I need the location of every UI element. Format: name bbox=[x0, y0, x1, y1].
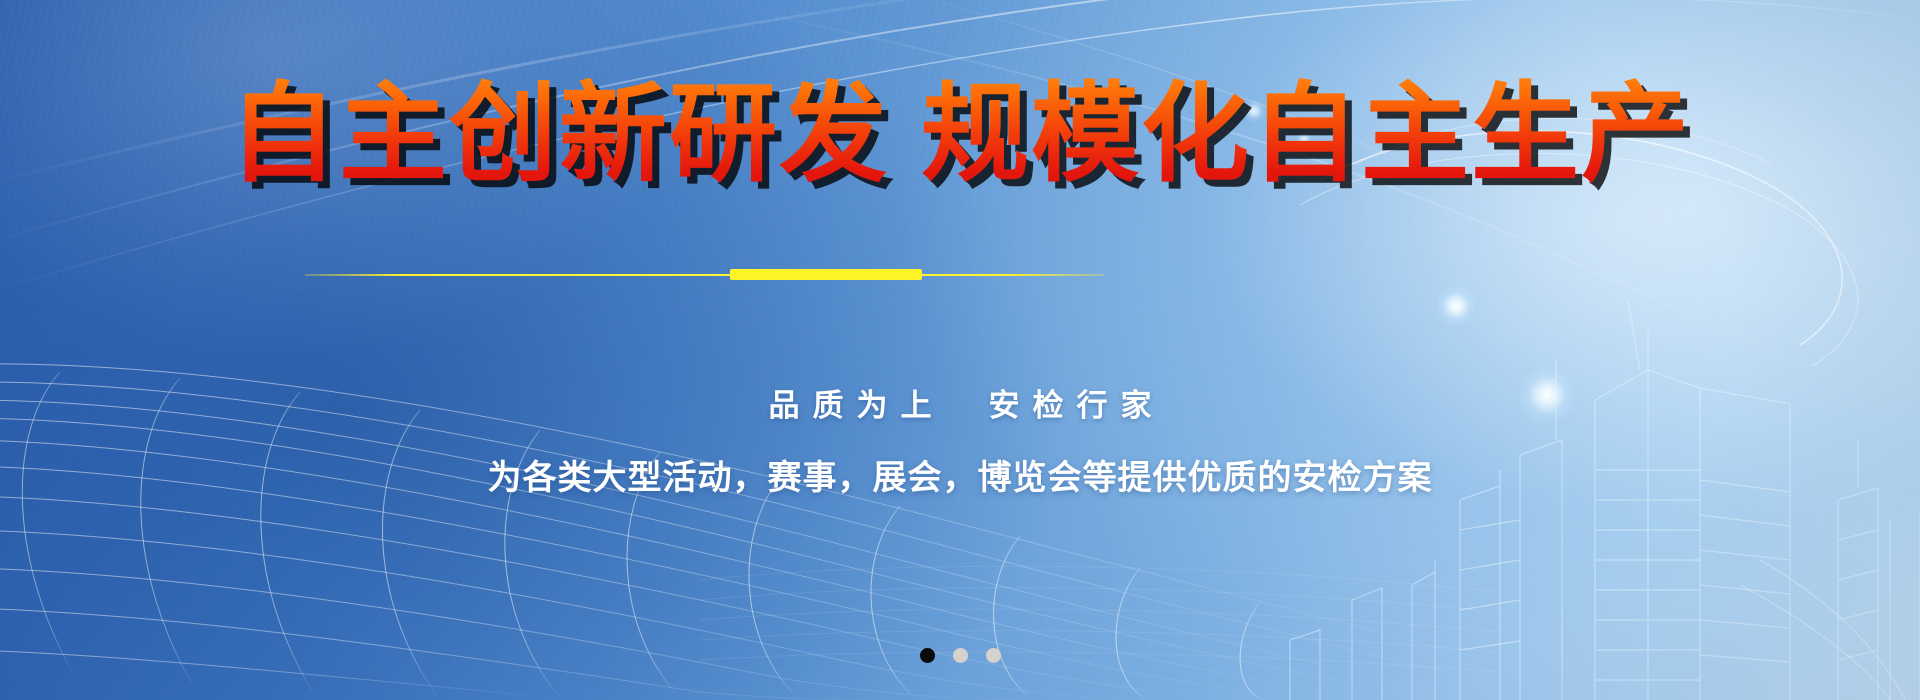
light-flare bbox=[1436, 286, 1476, 326]
page-title: 自主创新研发 规模化自主生产 bbox=[0, 68, 1920, 200]
title-divider bbox=[305, 268, 1105, 282]
carousel-dot-2[interactable] bbox=[953, 648, 968, 663]
divider-thick-segment bbox=[730, 269, 922, 280]
carousel-dots[interactable] bbox=[0, 648, 1920, 663]
hero-banner: 自主创新研发 规模化自主生产 品质为上 安检行家 为各类大型活动，赛事，展会，博… bbox=[0, 0, 1920, 700]
banner-description: 为各类大型活动，赛事，展会，博览会等提供优质的安检方案 bbox=[0, 450, 1920, 499]
carousel-dot-3[interactable] bbox=[986, 648, 1001, 663]
divider-thin-line bbox=[305, 274, 1105, 276]
carousel-dot-1[interactable] bbox=[920, 648, 935, 663]
banner-subtitle: 品质为上 安检行家 bbox=[0, 380, 1920, 425]
